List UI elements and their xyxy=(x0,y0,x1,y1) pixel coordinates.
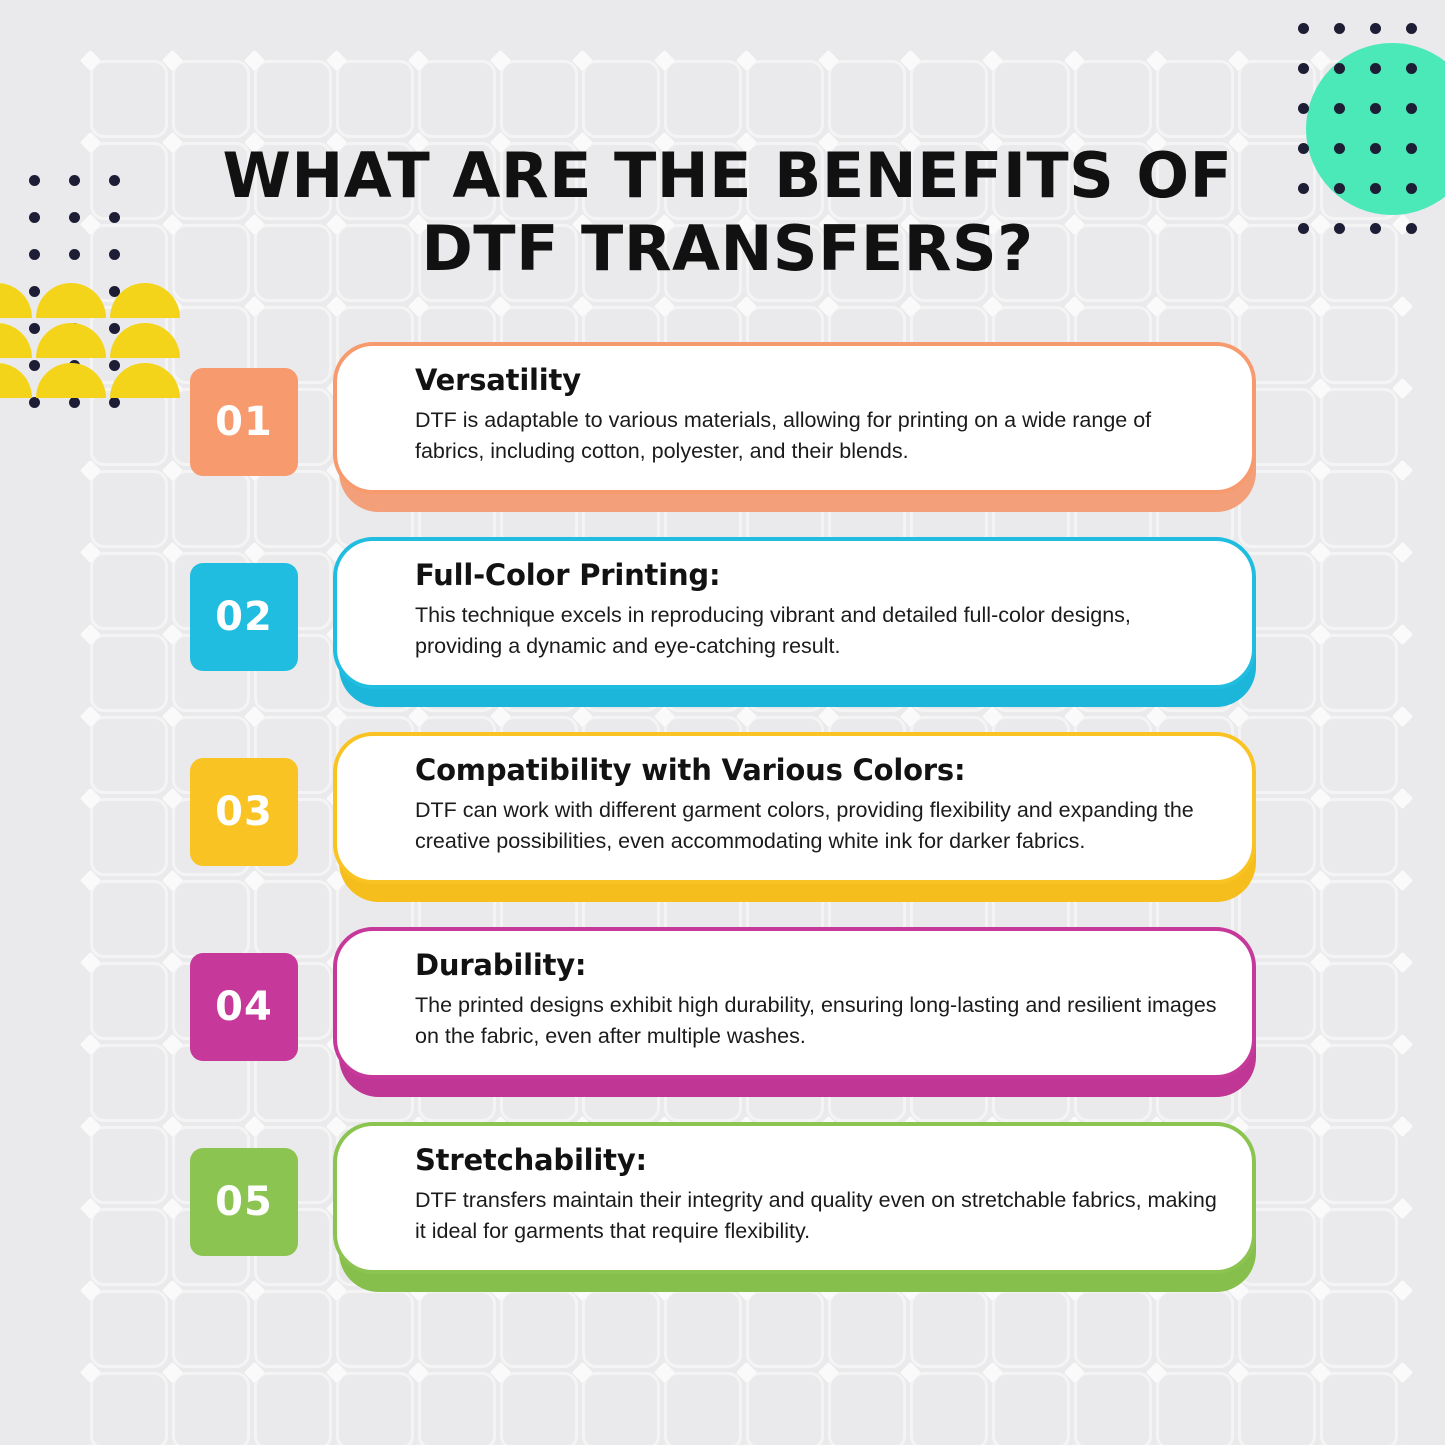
decorative-dot xyxy=(1298,103,1309,114)
grid-intersection-diamond xyxy=(654,1362,675,1383)
grid-intersection-diamond xyxy=(1146,50,1167,71)
card-body-text: DTF can work with different garment colo… xyxy=(415,795,1218,856)
grid-cell xyxy=(254,1372,332,1445)
benefit-card-row: 01VersatilityDTF is adaptable to various… xyxy=(0,342,1445,537)
grid-intersection-diamond xyxy=(900,296,921,317)
decorative-dot xyxy=(109,249,120,260)
grid-cell xyxy=(418,60,496,138)
card-number-badge: 02 xyxy=(190,563,298,671)
grid-intersection-diamond xyxy=(80,1362,101,1383)
grid-cell xyxy=(90,60,168,138)
grid-intersection-diamond xyxy=(490,50,511,71)
decorative-dot xyxy=(29,212,40,223)
grid-intersection-diamond xyxy=(244,50,265,71)
grid-intersection-diamond xyxy=(982,50,1003,71)
grid-intersection-diamond xyxy=(654,296,675,317)
grid-cell xyxy=(90,1372,168,1445)
grid-intersection-diamond xyxy=(244,1362,265,1383)
grid-intersection-diamond xyxy=(80,50,101,71)
grid-intersection-diamond xyxy=(1228,296,1249,317)
grid-cell xyxy=(500,1372,578,1445)
grid-cell xyxy=(910,1372,988,1445)
grid-cell xyxy=(828,1372,906,1445)
grid-intersection-diamond xyxy=(1310,296,1331,317)
decorative-dot xyxy=(1298,223,1309,234)
benefit-card-row: 05Stretchability:DTF transfers maintain … xyxy=(0,1122,1445,1317)
decorative-dot xyxy=(109,212,120,223)
grid-intersection-diamond xyxy=(326,296,347,317)
card-heading: Durability: xyxy=(415,947,1218,983)
grid-cell xyxy=(336,1372,414,1445)
grid-cell xyxy=(1156,1372,1234,1445)
grid-cell xyxy=(500,60,578,138)
semicircle-shape xyxy=(110,283,180,318)
grid-intersection-diamond xyxy=(1310,1362,1331,1383)
card-number-badge: 01 xyxy=(190,368,298,476)
card-heading: Compatibility with Various Colors: xyxy=(415,752,1218,788)
decorative-dot xyxy=(1334,63,1345,74)
grid-intersection-diamond xyxy=(408,50,429,71)
decorative-dot xyxy=(1334,103,1345,114)
decorative-dot xyxy=(1370,103,1381,114)
decorative-dot xyxy=(1406,103,1417,114)
decorative-dot xyxy=(1370,183,1381,194)
grid-cell xyxy=(336,60,414,138)
grid-cell xyxy=(992,60,1070,138)
grid-cell xyxy=(1238,1372,1316,1445)
grid-intersection-diamond xyxy=(900,1362,921,1383)
decorative-dot xyxy=(1298,143,1309,154)
benefit-card: Compatibility with Various Colors:DTF ca… xyxy=(333,732,1256,902)
decorative-dot xyxy=(69,175,80,186)
card-heading: Full-Color Printing: xyxy=(415,557,1218,593)
card-number-badge: 04 xyxy=(190,953,298,1061)
benefit-card-row: 03Compatibility with Various Colors:DTF … xyxy=(0,732,1445,927)
grid-intersection-diamond xyxy=(1146,1362,1167,1383)
benefit-card: VersatilityDTF is adaptable to various m… xyxy=(333,342,1256,512)
grid-intersection-diamond xyxy=(900,50,921,71)
grid-intersection-diamond xyxy=(1064,50,1085,71)
decorative-dot xyxy=(1334,143,1345,154)
grid-cell xyxy=(1320,1372,1398,1445)
decorative-dot xyxy=(29,249,40,260)
grid-intersection-diamond xyxy=(736,296,757,317)
grid-intersection-diamond xyxy=(162,214,183,235)
page-title: WHAT ARE THE BENEFITS OF DTF TRANSFERS? xyxy=(190,140,1265,285)
decorative-dot xyxy=(1298,183,1309,194)
grid-intersection-diamond xyxy=(408,1362,429,1383)
card-body-text: This technique excels in reproducing vib… xyxy=(415,600,1218,661)
benefit-card: Durability:The printed designs exhibit h… xyxy=(333,927,1256,1097)
grid-intersection-diamond xyxy=(736,1362,757,1383)
card-surface: Compatibility with Various Colors:DTF ca… xyxy=(333,732,1256,884)
grid-intersection-diamond xyxy=(818,296,839,317)
benefit-card-row: 04Durability:The printed designs exhibit… xyxy=(0,927,1445,1122)
grid-intersection-diamond xyxy=(1146,296,1167,317)
decorative-dot xyxy=(1370,23,1381,34)
card-body-text: DTF is adaptable to various materials, a… xyxy=(415,405,1218,466)
decorative-dot xyxy=(1406,183,1417,194)
card-body-text: The printed designs exhibit high durabil… xyxy=(415,990,1218,1051)
grid-intersection-diamond xyxy=(162,1362,183,1383)
card-heading: Stretchability: xyxy=(415,1142,1218,1178)
decorative-dot xyxy=(1370,223,1381,234)
grid-intersection-diamond xyxy=(818,1362,839,1383)
grid-cell xyxy=(582,60,660,138)
benefits-card-list: 01VersatilityDTF is adaptable to various… xyxy=(0,342,1445,1317)
infographic-poster: WHAT ARE THE BENEFITS OF DTF TRANSFERS? … xyxy=(0,0,1445,1445)
decorative-dot xyxy=(1334,23,1345,34)
decorative-dot xyxy=(1334,223,1345,234)
card-surface: VersatilityDTF is adaptable to various m… xyxy=(333,342,1256,494)
grid-cell xyxy=(254,60,332,138)
grid-intersection-diamond xyxy=(572,1362,593,1383)
card-body-text: DTF transfers maintain their integrity a… xyxy=(415,1185,1218,1246)
grid-cell xyxy=(1156,60,1234,138)
semicircle-shape xyxy=(36,283,106,318)
decorative-dot xyxy=(29,175,40,186)
decorative-dot xyxy=(1370,143,1381,154)
card-surface: Stretchability:DTF transfers maintain th… xyxy=(333,1122,1256,1274)
grid-cell xyxy=(582,1372,660,1445)
grid-intersection-diamond xyxy=(1064,1362,1085,1383)
grid-cell xyxy=(664,60,742,138)
card-heading: Versatility xyxy=(415,362,1218,398)
semicircle-shape xyxy=(0,283,32,318)
grid-intersection-diamond xyxy=(1392,1362,1413,1383)
grid-cell xyxy=(1074,60,1152,138)
grid-intersection-diamond xyxy=(162,132,183,153)
decorative-dot xyxy=(1406,143,1417,154)
benefit-card: Stretchability:DTF transfers maintain th… xyxy=(333,1122,1256,1292)
grid-intersection-diamond xyxy=(490,1362,511,1383)
semicircle-row xyxy=(0,283,184,316)
card-number-badge: 05 xyxy=(190,1148,298,1256)
grid-cell xyxy=(172,60,250,138)
grid-cell xyxy=(746,60,824,138)
grid-cell xyxy=(746,1372,824,1445)
grid-intersection-diamond xyxy=(1228,1362,1249,1383)
decorative-dot xyxy=(1298,63,1309,74)
decorative-dot xyxy=(69,212,80,223)
grid-intersection-diamond xyxy=(244,296,265,317)
grid-intersection-diamond xyxy=(1064,296,1085,317)
grid-intersection-diamond xyxy=(572,296,593,317)
card-surface: Full-Color Printing:This technique excel… xyxy=(333,537,1256,689)
card-surface: Durability:The printed designs exhibit h… xyxy=(333,927,1256,1079)
grid-cell xyxy=(910,60,988,138)
grid-intersection-diamond xyxy=(1228,50,1249,71)
decorative-dot xyxy=(1406,23,1417,34)
grid-intersection-diamond xyxy=(736,50,757,71)
benefit-card: Full-Color Printing:This technique excel… xyxy=(333,537,1256,707)
grid-cell xyxy=(1074,1372,1152,1445)
grid-intersection-diamond xyxy=(572,50,593,71)
grid-cell xyxy=(172,1372,250,1445)
grid-intersection-diamond xyxy=(1392,296,1413,317)
dot-grid-top-right-decoration xyxy=(1285,8,1429,248)
grid-cell xyxy=(992,1372,1070,1445)
grid-intersection-diamond xyxy=(818,50,839,71)
grid-intersection-diamond xyxy=(490,296,511,317)
grid-intersection-diamond xyxy=(654,50,675,71)
decorative-dot xyxy=(1334,183,1345,194)
grid-cell xyxy=(664,1372,742,1445)
grid-cell xyxy=(418,1372,496,1445)
grid-intersection-diamond xyxy=(408,296,429,317)
grid-cell xyxy=(828,60,906,138)
grid-intersection-diamond xyxy=(80,132,101,153)
grid-intersection-diamond xyxy=(982,1362,1003,1383)
card-number-badge: 03 xyxy=(190,758,298,866)
grid-intersection-diamond xyxy=(326,1362,347,1383)
decorative-dot xyxy=(1298,23,1309,34)
decorative-dot xyxy=(69,249,80,260)
grid-intersection-diamond xyxy=(162,50,183,71)
decorative-dot xyxy=(1370,63,1381,74)
grid-intersection-diamond xyxy=(982,296,1003,317)
decorative-dot xyxy=(1406,63,1417,74)
grid-intersection-diamond xyxy=(326,50,347,71)
decorative-dot xyxy=(109,175,120,186)
benefit-card-row: 02Full-Color Printing:This technique exc… xyxy=(0,537,1445,732)
decorative-dot xyxy=(1406,223,1417,234)
